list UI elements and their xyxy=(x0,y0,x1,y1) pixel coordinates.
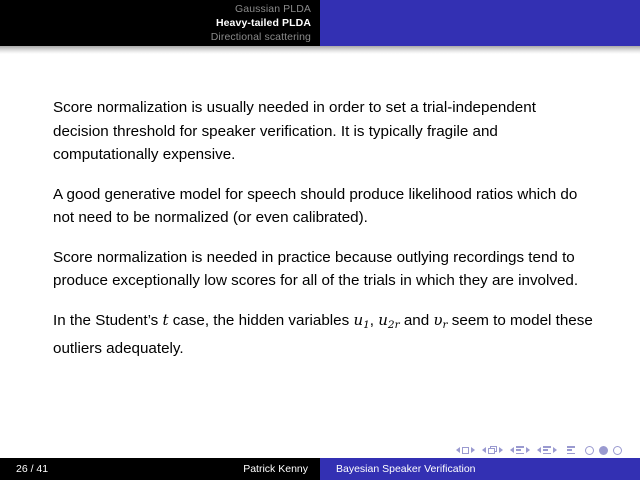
subsection-navigation-group[interactable] xyxy=(510,446,530,454)
forward-circle-icon[interactable] xyxy=(613,446,622,455)
slide-footer: 26 / 41 Patrick Kenny Bayesian Speaker V… xyxy=(0,458,640,480)
slide-navigation-group[interactable] xyxy=(456,447,475,454)
header-shadow-divider xyxy=(0,46,640,54)
bars-subsection-icon[interactable] xyxy=(516,446,524,454)
section-navigation-group[interactable] xyxy=(537,446,557,454)
para4-separator-comma: , xyxy=(370,312,378,329)
nav-item-directional-scattering[interactable]: Directional scattering xyxy=(0,30,311,44)
previous-frame-icon[interactable] xyxy=(482,447,486,453)
nav-item-heavy-tailed-plda[interactable]: Heavy-tailed PLDA xyxy=(0,16,311,30)
math-variable-u1-base: u xyxy=(353,311,363,329)
frame-navigation-group[interactable] xyxy=(482,446,503,454)
nav-item-gaussian-plda[interactable]: Gaussian PLDA xyxy=(0,2,311,16)
previous-subsection-icon[interactable] xyxy=(510,447,514,453)
next-section-icon[interactable] xyxy=(553,447,557,453)
para4-mid-text: case, the hidden variables xyxy=(169,312,354,329)
stacked-frames-icon[interactable] xyxy=(488,446,497,454)
paragraph-generative-model-likelihood: A good generative model for speech shoul… xyxy=(53,183,593,230)
beamer-navigation-symbols xyxy=(456,443,632,457)
next-frame-icon[interactable] xyxy=(499,447,503,453)
paragraph-student-t-hidden-variables: In the Student’s t case, the hidden vari… xyxy=(53,309,593,361)
search-circle-icon[interactable] xyxy=(599,446,608,455)
previous-slide-icon[interactable] xyxy=(456,447,460,453)
back-circle-icon[interactable] xyxy=(585,446,594,455)
math-variable-u2r-base: u xyxy=(378,311,388,329)
presentation-navigation-group[interactable] xyxy=(567,446,575,454)
math-variable-u1-subscript: 1 xyxy=(363,318,370,330)
next-slide-icon[interactable] xyxy=(471,447,475,453)
footer-author: Patrick Kenny xyxy=(0,463,308,475)
next-subsection-icon[interactable] xyxy=(526,447,530,453)
math-variable-u2r-subscript: 2r xyxy=(388,318,400,330)
math-variable-vr-base: υ xyxy=(433,311,442,329)
header-accent-panel xyxy=(320,0,640,46)
back-navigation-group[interactable] xyxy=(585,446,625,455)
para4-conjunction-and: and xyxy=(400,312,434,329)
bars-section-icon[interactable] xyxy=(543,446,551,454)
para4-lead-text: In the Student’s xyxy=(53,312,163,329)
paragraph-outlying-recordings: Score normalization is needed in practic… xyxy=(53,246,593,293)
footer-presentation-title: Bayesian Speaker Verification xyxy=(336,463,476,475)
paragraph-score-normalization-threshold: Score normalization is usually needed in… xyxy=(53,96,593,167)
bars-presentation-icon[interactable] xyxy=(567,446,575,454)
header-navigation-list: Gaussian PLDA Heavy-tailed PLDA Directio… xyxy=(0,2,311,44)
previous-section-icon[interactable] xyxy=(537,447,541,453)
square-slide-icon[interactable] xyxy=(462,447,469,454)
slide-content: Score normalization is usually needed in… xyxy=(53,96,593,360)
slide-header: Gaussian PLDA Heavy-tailed PLDA Directio… xyxy=(0,0,640,46)
